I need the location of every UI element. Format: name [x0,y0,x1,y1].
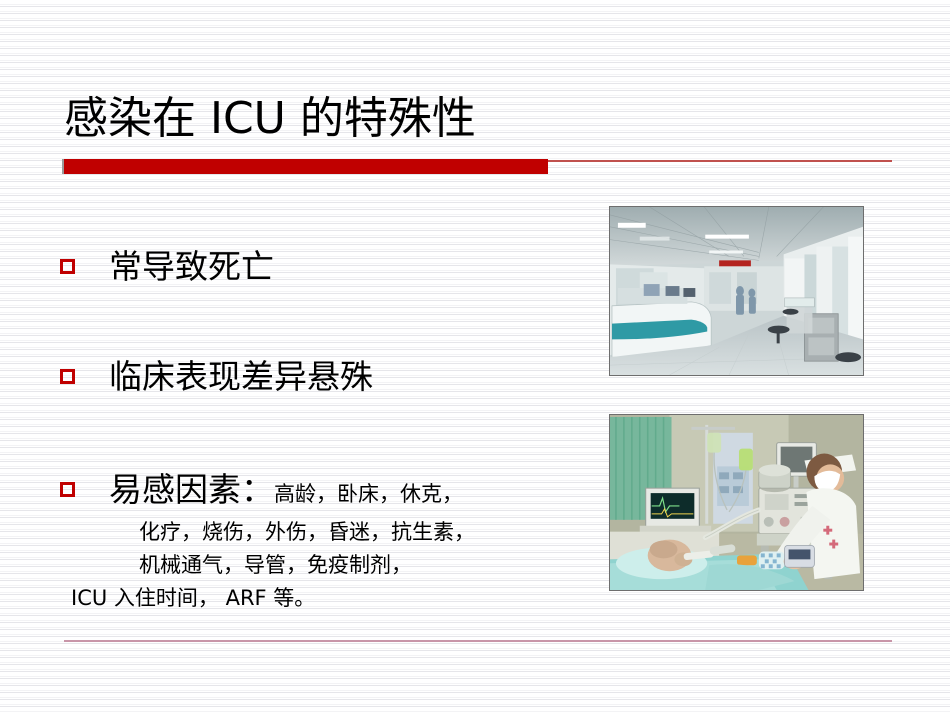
bullet-item-2-label: 临床表现差异悬殊 [109,355,373,399]
icu-hallway-photo [609,206,864,376]
risk-factors-line-4: ICU 入住时间， ARF 等。 [71,582,579,615]
footer-divider [64,640,892,642]
risk-factors-line-2: 化疗，烧伤，外伤，昏迷，抗生素， [139,516,579,549]
presentation-slide: 感染在 ICU 的特殊性 常导致死亡 临床表现差异悬殊 易感因素：高龄，卧床，休… [0,0,950,713]
icu-bedside-photo [609,414,864,591]
risk-factors-block: 易感因素：高龄，卧床，休克， 化疗，烧伤，外伤，昏迷，抗生素， 机械通气，导管，… [109,468,579,615]
risk-factors-line-1: 高龄，卧床，休克， [274,482,463,506]
bullet-item-2: 临床表现差异悬殊 [60,355,373,399]
square-bullet-icon [60,369,75,384]
risk-factors-heading: 易感因素： [109,470,274,509]
risk-factors-line-3: 机械通气，导管，免疫制剂， [139,549,579,582]
page-title: 感染在 ICU 的特殊性 [64,92,764,146]
bullet-item-1: 常导致死亡 [60,245,274,289]
bullet-item-3: 易感因素：高龄，卧床，休克， 化疗，烧伤，外伤，昏迷，抗生素， 机械通气，导管，… [60,468,579,615]
title-underline-accent-bar [62,159,548,174]
bullet-item-1-label: 常导致死亡 [109,245,274,289]
square-bullet-icon [60,482,75,497]
square-bullet-icon [60,259,75,274]
icu-hallway-illustration [610,207,863,375]
icu-bedside-illustration [610,415,863,590]
